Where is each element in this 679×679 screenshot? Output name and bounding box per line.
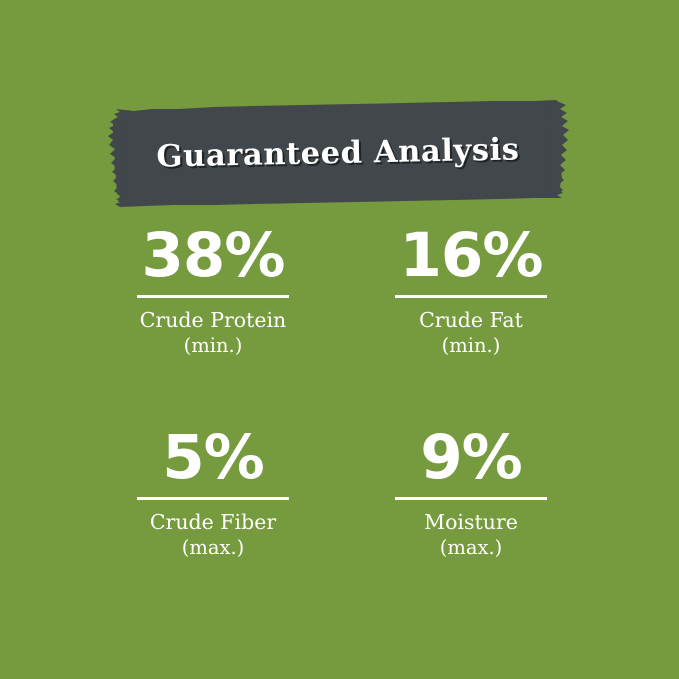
stat-label: Crude Protein bbox=[140, 307, 287, 333]
stat-crude-protein: 38% Crude Protein (min.) bbox=[84, 222, 342, 359]
stat-divider-rule bbox=[395, 497, 547, 500]
stat-qualifier: (max.) bbox=[182, 535, 245, 561]
stat-label: Crude Fiber bbox=[150, 509, 276, 535]
stat-value: 9% bbox=[420, 424, 522, 492]
stat-moisture: 9% Moisture (max.) bbox=[342, 424, 600, 561]
banner-title-wrapper: Guaranteed Analysis bbox=[103, 93, 573, 214]
guaranteed-analysis-panel: Guaranteed Analysis 38% Crude Protein (m… bbox=[0, 0, 679, 679]
stat-crude-fiber: 5% Crude Fiber (max.) bbox=[84, 424, 342, 561]
stat-divider-rule bbox=[137, 295, 289, 298]
banner-title-text: Guaranteed Analysis bbox=[156, 131, 520, 176]
stat-label: Crude Fat bbox=[419, 307, 523, 333]
stat-qualifier: (min.) bbox=[442, 333, 501, 359]
stat-divider-rule bbox=[395, 295, 547, 298]
stat-value: 5% bbox=[162, 424, 264, 492]
stat-value: 16% bbox=[399, 222, 542, 290]
stat-crude-fat: 16% Crude Fat (min.) bbox=[342, 222, 600, 359]
stat-label: Moisture bbox=[424, 509, 518, 535]
stat-value: 38% bbox=[141, 222, 284, 290]
stats-grid: 38% Crude Protein (min.) 16% Crude Fat (… bbox=[84, 222, 600, 626]
stat-qualifier: (max.) bbox=[440, 535, 503, 561]
stat-divider-rule bbox=[137, 497, 289, 500]
guaranteed-analysis-banner: Guaranteed Analysis bbox=[104, 98, 572, 210]
stat-qualifier: (min.) bbox=[184, 333, 243, 359]
